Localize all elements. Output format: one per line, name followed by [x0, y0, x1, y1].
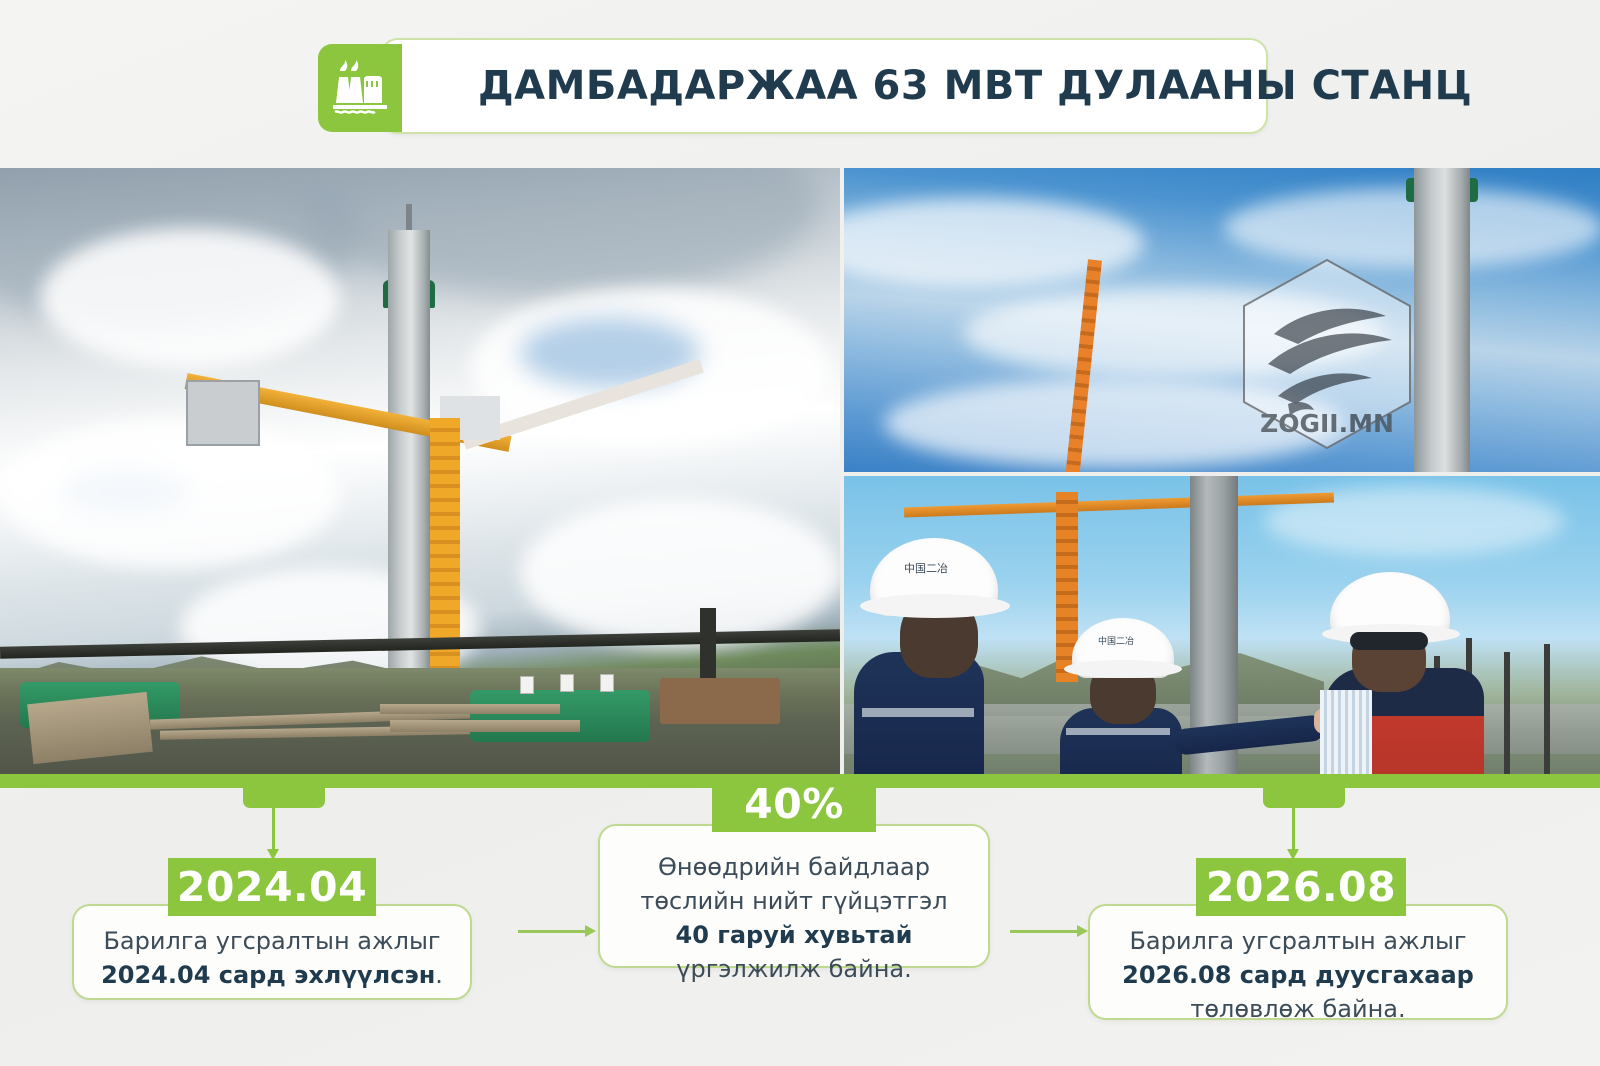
chimney-stack-top-right	[1414, 168, 1470, 472]
card-step-1-tail: .	[435, 961, 443, 989]
card-step-2-line2: төслийн нийт гүйцэтгэл	[640, 887, 947, 915]
chimney-stack	[388, 230, 430, 730]
construction-yard	[0, 668, 840, 788]
arrow-right-2	[1010, 930, 1078, 933]
hard-hat-text-middle: 中国二冶	[1098, 634, 1134, 647]
header: ДАМБАДАРЖАА 63 МВТ ДУЛААНЫ СТАНЦ	[318, 38, 1268, 138]
badge-step-1: 2024.04	[168, 858, 376, 916]
photo-collage: 中国二冶 中国二冶	[0, 168, 1600, 788]
card-step-3-text: Барилга угсралтын ажлыг 2026.08 сард дуу…	[1090, 924, 1506, 1026]
crane-cab	[186, 380, 260, 446]
photo-stack-blue-sky	[844, 168, 1600, 472]
photo-workers-onsite: 中国二冶 中国二冶	[844, 476, 1600, 788]
card-step-3-line3: төлөвлөж байна.	[1190, 995, 1405, 1023]
card-step-3-line1: Барилга угсралтын ажлыг	[1129, 927, 1466, 955]
card-step-3: Барилга угсралтын ажлыг 2026.08 сард дуу…	[1088, 904, 1508, 1020]
card-step-2-line3: үргэлжилж байна.	[676, 955, 912, 983]
watermark-zogii: ZOGII.MN	[1238, 256, 1416, 452]
badge-step-2: 40%	[712, 776, 876, 832]
card-step-3-bold: 2026.08 сард дуусгахаар	[1122, 961, 1474, 989]
arrow-down-right	[1292, 806, 1295, 850]
card-step-1-text: Барилга угсралтын ажлыг 2024.04 сард эхл…	[74, 924, 470, 992]
card-step-2-text: Өнөөдрийн байдлаар төслийн нийт гүйцэтгэ…	[600, 850, 988, 986]
infographic-root: ДАМБАДАРЖАА 63 МВТ ДУЛААНЫ СТАНЦ	[0, 0, 1600, 1066]
power-plant-icon	[318, 44, 402, 132]
card-step-1-bold: 2024.04 сард эхлүүлсэн	[101, 961, 435, 989]
crane-mast	[430, 418, 460, 708]
title-bar: ДАМБАДАРЖАА 63 МВТ ДУЛААНЫ СТАНЦ	[380, 38, 1268, 134]
green-tab-left	[243, 774, 325, 808]
card-step-2: Өнөөдрийн байдлаар төслийн нийт гүйцэтгэ…	[598, 824, 990, 968]
arrow-right-1	[518, 930, 586, 933]
page-title: ДАМБАДАРЖАА 63 МВТ ДУЛААНЫ СТАНЦ	[478, 63, 1472, 109]
card-step-2-bold: 40 гаруй хувьтай	[676, 921, 913, 949]
arrow-down-left	[272, 806, 275, 850]
card-step-2-line1: Өнөөдрийн байдлаар	[658, 853, 930, 881]
svg-text:ZOGII.MN: ZOGII.MN	[1260, 409, 1394, 438]
badge-step-3: 2026.08	[1196, 858, 1406, 916]
card-step-1: Барилга угсралтын ажлыг 2024.04 сард эхл…	[72, 904, 472, 1000]
photo-main-construction	[0, 168, 840, 788]
card-step-1-line1: Барилга угсралтын ажлыг	[103, 927, 440, 955]
green-tab-right	[1263, 774, 1345, 808]
hard-hat-text-left: 中国二冶	[904, 560, 948, 576]
